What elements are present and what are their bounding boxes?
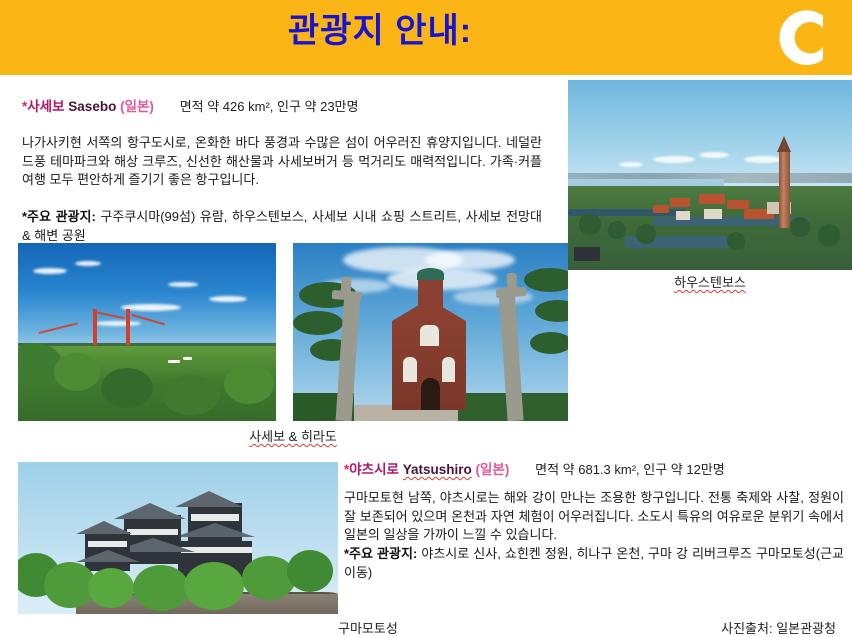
yatsushiro-poi-label: *주요 관광지: [344,546,417,561]
yatsushiro-poi-text: 야츠시로 신사, 쇼힌켄 정원, 히나구 온천, 구마 강 리버크루즈 구마모토… [344,546,844,580]
sasebo-poi-label: *주요 관광지: [22,209,96,224]
caption-huis-ten-bosch-text: 하우스텐보스 [674,275,746,290]
caption-sasebo-hirado-label: 사세보 & 히라도 [249,429,337,444]
photo-hirado-bridge [18,243,276,421]
yatsushiro-country: (일본) [476,462,510,477]
section-sasebo-poi: *주요 관광지: 구주쿠시마(99섬) 유람, 하우스텐보스, 사세보 시내 쇼… [22,208,542,245]
photo-huis-ten-bosch [568,80,852,270]
photo-church [293,243,568,421]
yatsushiro-name-ko: 야츠시로 [349,462,399,477]
sasebo-name-ko: 사세보 [27,99,64,114]
sasebo-name-en: Sasebo [68,99,116,114]
page-header: 관광지 안내: [0,0,852,75]
caption-kumamoto-castle: 구마모토성 [338,618,498,637]
photo-credit: 사진출처: 일본관광청 [721,618,836,637]
brand-logo-c-icon [768,2,846,70]
section-yatsushiro-body: 구마모토현 남쪽, 야츠시로는 해와 강이 만나는 조용한 항구입니다. 전통 … [344,489,844,545]
section-sasebo-body: 나가사키현 서쪽의 항구도시로, 온화한 바다 풍경과 수많은 섬이 어우러진 … [22,134,542,190]
caption-sasebo-hirado-text: 사세보 & 히라도 [249,429,337,444]
caption-sasebo-hirado: 사세보 & 히라도 [18,426,568,445]
section-yatsushiro-poi: *주요 관광지: 야츠시로 신사, 쇼힌켄 정원, 히나구 온천, 구마 강 리… [344,545,844,582]
yatsushiro-name-en: Yatsushiro [403,462,472,477]
caption-huis-ten-bosch: 하우스텐보스 [568,272,852,291]
sasebo-stats: 면적 약 426 km², 인구 약 23만명 [158,99,359,114]
sasebo-poi-text: 구주쿠시마(99섬) 유람, 하우스텐보스, 사세보 시내 쇼핑 스트리트, 사… [22,209,542,243]
photo-kumamoto-castle [18,462,338,614]
sasebo-country: (일본) [120,99,154,114]
page-title: 관광지 안내: [0,6,760,56]
yatsushiro-stats: 면적 약 681.3 km², 인구 약 12만명 [513,462,725,477]
section-sasebo-heading: *사세보 Sasebo (일본) 면적 약 426 km², 인구 약 23만명 [22,98,562,116]
section-yatsushiro-heading: *야츠시로 Yatsushiro (일본) 면적 약 681.3 km², 인구… [344,461,852,479]
